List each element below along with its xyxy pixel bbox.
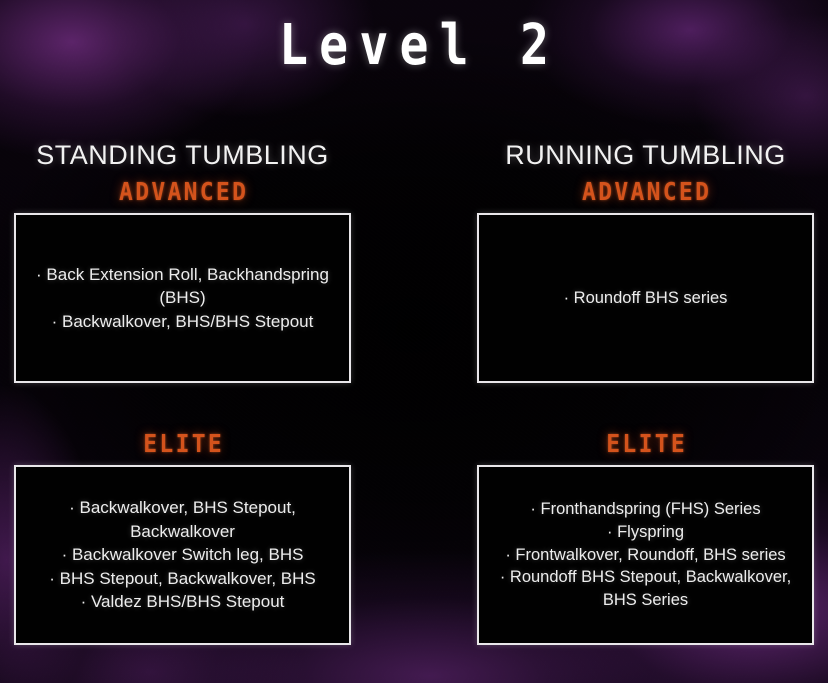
list-item: Backwalkover, BHS/BHS Stepout [26, 310, 339, 333]
list-item: Back Extension Roll, Backhandspring (BHS… [26, 263, 339, 310]
tier-running-elite: ELITE Fronthandspring (FHS) Series Flysp… [477, 429, 814, 645]
tier-running-advanced: ADVANCED Roundoff BHS series [477, 177, 814, 383]
column-running-tumbling: RUNNING TUMBLING ADVANCED Roundoff BHS s… [477, 140, 814, 645]
list-item: Backwalkover Switch leg, BHS [26, 543, 339, 566]
skill-list-running-elite: Fronthandspring (FHS) Series Flyspring F… [479, 498, 812, 612]
list-item: Roundoff BHS Stepout, Backwalkover, BHS … [489, 566, 802, 612]
list-item: Frontwalkover, Roundoff, BHS series [489, 544, 802, 567]
skill-box-running-elite: Fronthandspring (FHS) Series Flyspring F… [477, 465, 814, 645]
skill-list-standing-advanced: Back Extension Roll, Backhandspring (BHS… [16, 263, 349, 333]
skill-box-standing-advanced: Back Extension Roll, Backhandspring (BHS… [14, 213, 351, 383]
skill-box-running-advanced: Roundoff BHS series [477, 213, 814, 383]
list-item: Fronthandspring (FHS) Series [489, 498, 802, 521]
list-item: Flyspring [489, 521, 802, 544]
tier-label-standing-elite: ELITE [27, 429, 337, 458]
list-item: BHS Stepout, Backwalkover, BHS [26, 567, 339, 590]
list-item: Roundoff BHS series [564, 287, 728, 310]
page-title: Level 2 [58, 17, 770, 76]
tier-standing-advanced: ADVANCED Back Extension Roll, Backhandsp… [14, 177, 351, 383]
list-item: Valdez BHS/BHS Stepout [26, 590, 339, 613]
tumbling-columns: STANDING TUMBLING ADVANCED Back Extensio… [0, 140, 828, 645]
column-standing-tumbling: STANDING TUMBLING ADVANCED Back Extensio… [14, 140, 351, 645]
column-heading-running: RUNNING TUMBLING [477, 140, 814, 171]
tier-standing-elite: ELITE Backwalkover, BHS Stepout, Backwal… [14, 429, 351, 645]
list-item: Backwalkover, BHS Stepout, Backwalkover [26, 496, 339, 543]
tier-label-standing-advanced: ADVANCED [27, 177, 337, 206]
level-chart-page: Level 2 STANDING TUMBLING ADVANCED Back … [0, 0, 828, 683]
skill-list-standing-elite: Backwalkover, BHS Stepout, Backwalkover … [16, 496, 349, 613]
skill-box-standing-elite: Backwalkover, BHS Stepout, Backwalkover … [14, 465, 351, 645]
tier-label-running-advanced: ADVANCED [490, 177, 800, 206]
tier-label-running-elite: ELITE [490, 429, 800, 458]
column-heading-standing: STANDING TUMBLING [14, 140, 351, 171]
skill-list-running-advanced: Roundoff BHS series [554, 287, 738, 310]
